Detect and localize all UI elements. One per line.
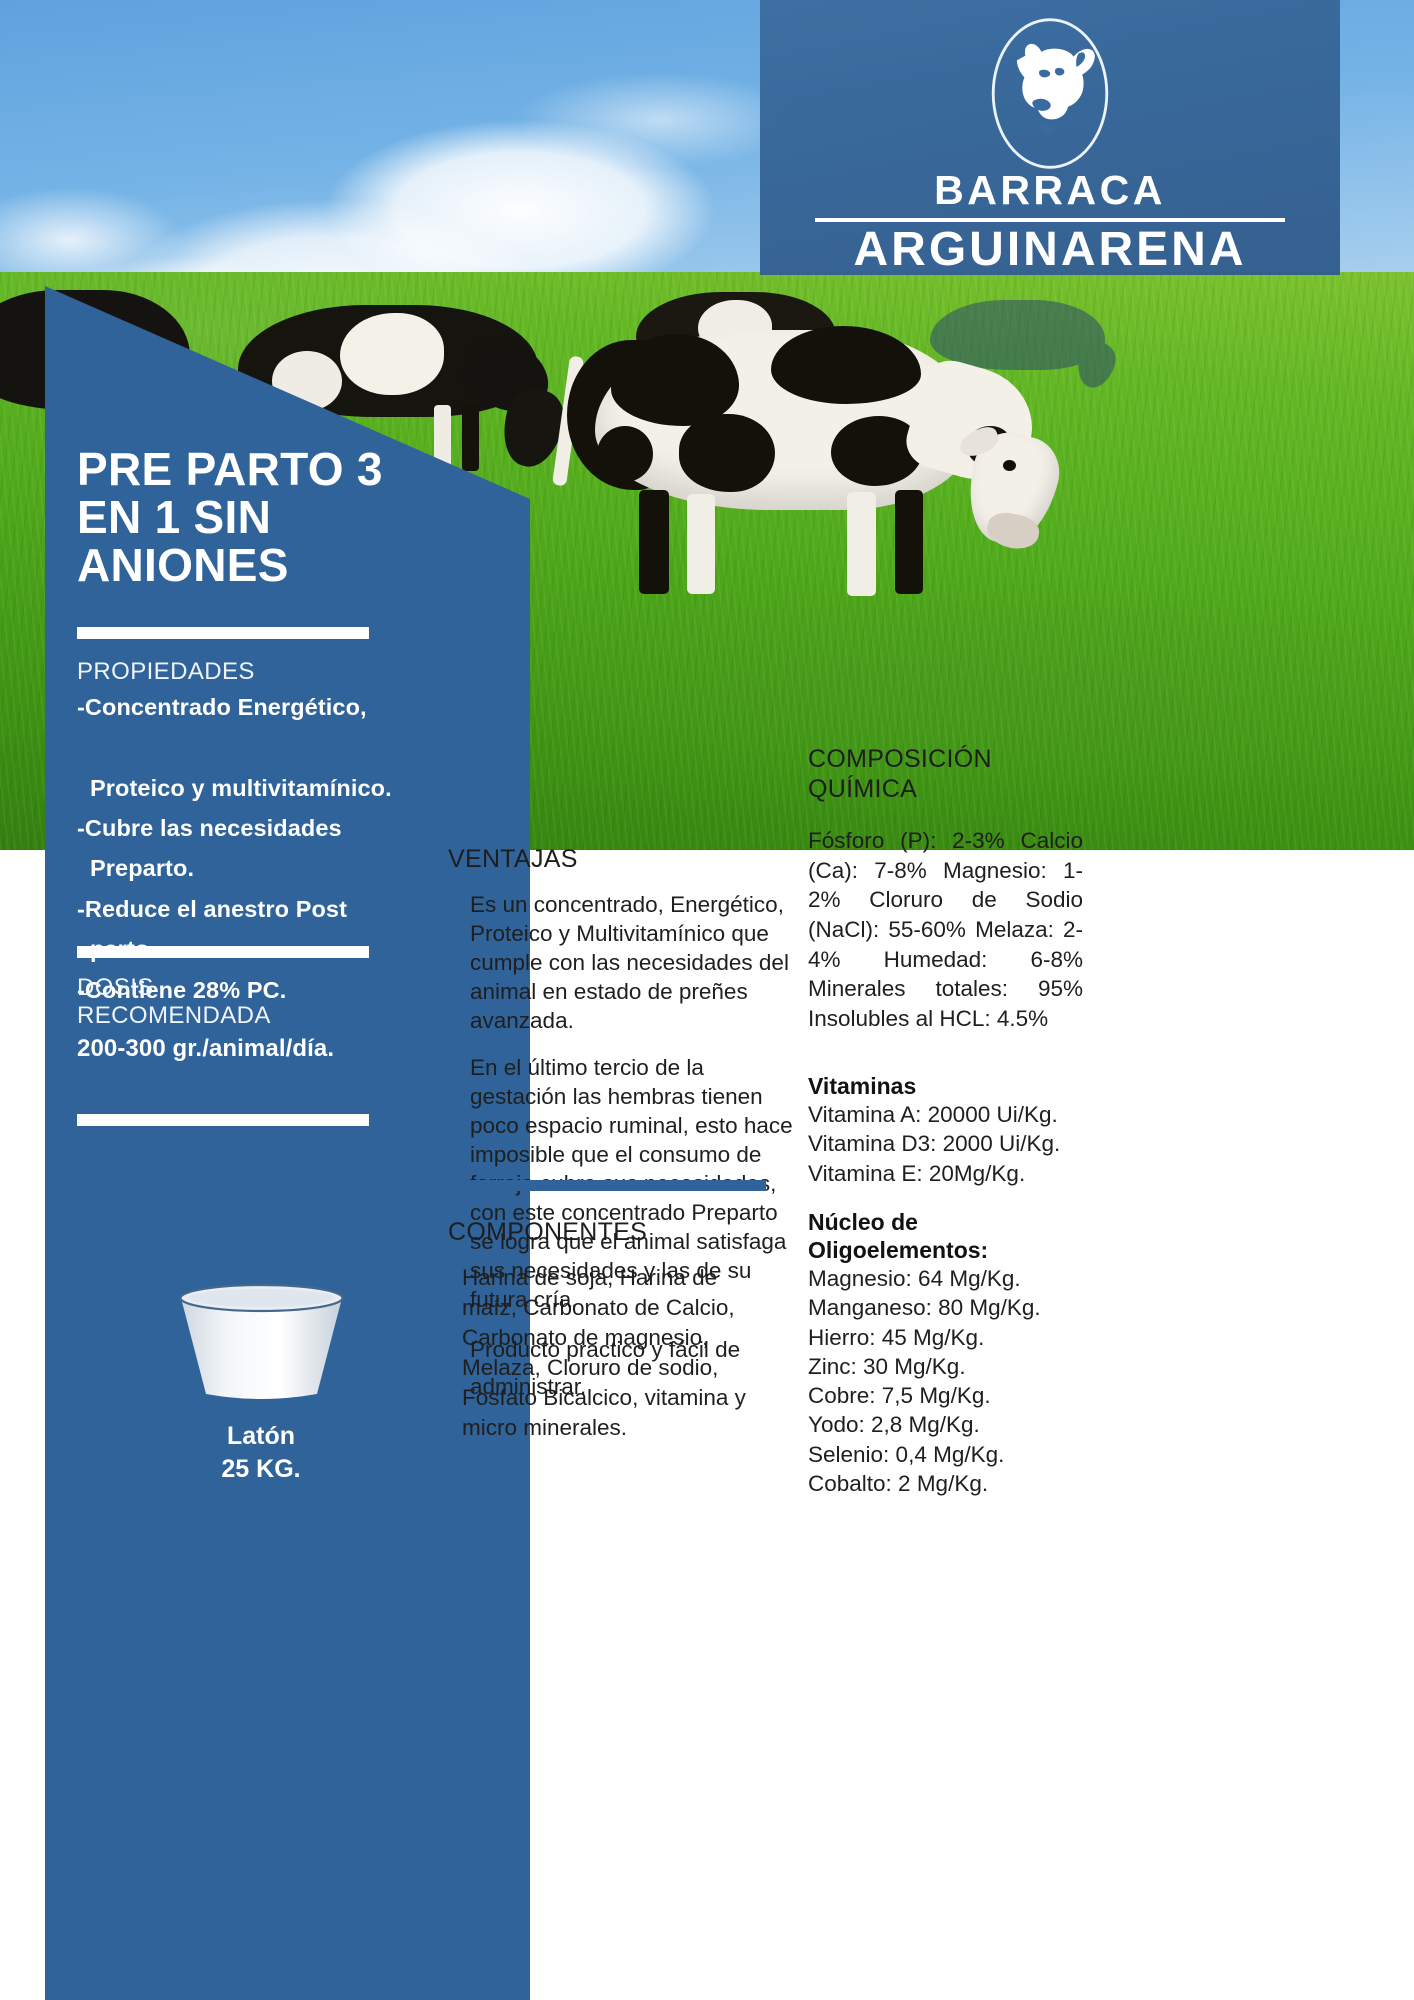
trace-elements-section: Núcleo de Oligoelementos: Magnesio: 64 M…: [808, 1208, 1083, 1498]
property-item: -Concentrado Energético,: [77, 694, 367, 720]
trace-elements-heading-line1: Núcleo de: [808, 1208, 1083, 1236]
trace-element-line: Manganeso: 80 Mg/Kg.: [808, 1293, 1083, 1322]
trace-elements-heading-line2: Oligoelementos:: [808, 1236, 1083, 1264]
property-item: Preparto.: [77, 848, 462, 888]
product-flyer: BARRACA ARGUINARENA PRE PARTO 3 EN 1 SIN…: [0, 0, 1414, 2000]
trace-element-line: Hierro: 45 Mg/Kg.: [808, 1323, 1083, 1352]
brand-name: BARRACA ARGUINARENA: [815, 169, 1285, 275]
package-section: Latón 25 KG.: [45, 1282, 477, 1485]
chemical-composition-text: Fósforo (P): 2-3% Calcio (Ca): 7-8% Magn…: [808, 826, 1083, 1034]
trace-element-line: Yodo: 2,8 Mg/Kg.: [808, 1410, 1083, 1439]
components-section: COMPONENTES Harina de soja, Harina de ma…: [448, 1218, 768, 1443]
brand-name-top: BARRACA: [815, 169, 1285, 212]
brand-divider: [815, 218, 1285, 222]
trace-element-line: Zinc: 30 Mg/Kg.: [808, 1352, 1083, 1381]
chemical-composition-section: COMPOSICIÓN QUÍMICA Fósforo (P): 2-3% Ca…: [808, 745, 1083, 1034]
cow-hero-foreground: [595, 330, 1065, 610]
bucket-icon: [169, 1282, 354, 1404]
cow-head-logo-icon: [984, 14, 1116, 173]
advantage-text: Es un concentrado, Energético, Proteico …: [470, 892, 789, 1033]
dosage-heading-line1: DOSIS: [77, 974, 462, 1002]
property-item: Proteico y multivitamínico.: [77, 768, 462, 808]
chemical-heading-line2: QUÍMICA: [808, 775, 1083, 805]
chemical-heading-line1: COMPOSICIÓN: [808, 745, 1083, 775]
title-divider: [77, 627, 369, 639]
vitamin-line: Vitamina D3: 2000 Ui/Kg.: [808, 1129, 1083, 1158]
package-weight: 25 KG.: [221, 1455, 300, 1483]
properties-heading: PROPIEDADES: [77, 658, 462, 686]
dosage-section: DOSIS RECOMENDADA 200-300 gr./animal/día…: [77, 974, 462, 1063]
vitamin-line: Vitamina A: 20000 Ui/Kg.: [808, 1100, 1083, 1129]
brand-logo-panel: BARRACA ARGUINARENA: [760, 0, 1340, 275]
vitamins-heading: Vitaminas: [808, 1072, 1083, 1100]
bullet-icon: [448, 1064, 458, 1074]
bullet-icon: [448, 901, 458, 911]
vitamin-line: Vitamina E: 20Mg/Kg.: [808, 1159, 1083, 1188]
trace-element-line: Cobalto: 2 Mg/Kg.: [808, 1469, 1083, 1498]
advantages-heading: VENTAJAS: [448, 845, 798, 874]
properties-list: -Concentrado Energético, Proteico y mult…: [77, 687, 462, 1010]
dosage-value: 200-300 gr./animal/día.: [77, 1035, 462, 1063]
sidebar-divider-2: [77, 946, 369, 958]
package-label: Latón 25 KG.: [45, 1420, 477, 1485]
trace-element-line: Cobre: 7,5 Mg/Kg.: [808, 1381, 1083, 1410]
page-title: PRE PARTO 3 EN 1 SIN ANIONES: [77, 446, 447, 589]
components-text: Harina de soja, Harina de maíz, Carbonat…: [448, 1263, 768, 1443]
dosage-heading-line2: RECOMENDADA: [77, 1002, 462, 1030]
components-divider: [448, 1180, 766, 1191]
package-material: Latón: [227, 1422, 295, 1450]
brand-name-bottom: ARGUINARENA: [815, 226, 1285, 275]
vitamins-section: Vitaminas Vitamina A: 20000 Ui/Kg. Vitam…: [808, 1072, 1083, 1188]
trace-element-line: Magnesio: 64 Mg/Kg.: [808, 1264, 1083, 1293]
components-heading: COMPONENTES: [448, 1218, 768, 1247]
trace-element-line: Selenio: 0,4 Mg/Kg.: [808, 1440, 1083, 1469]
advantage-item: Es un concentrado, Energético, Proteico …: [448, 890, 798, 1035]
property-item: -Cubre las necesidades: [77, 815, 342, 841]
sidebar-divider-3: [77, 1114, 369, 1126]
property-item: -Reduce el anestro Post: [77, 896, 347, 922]
